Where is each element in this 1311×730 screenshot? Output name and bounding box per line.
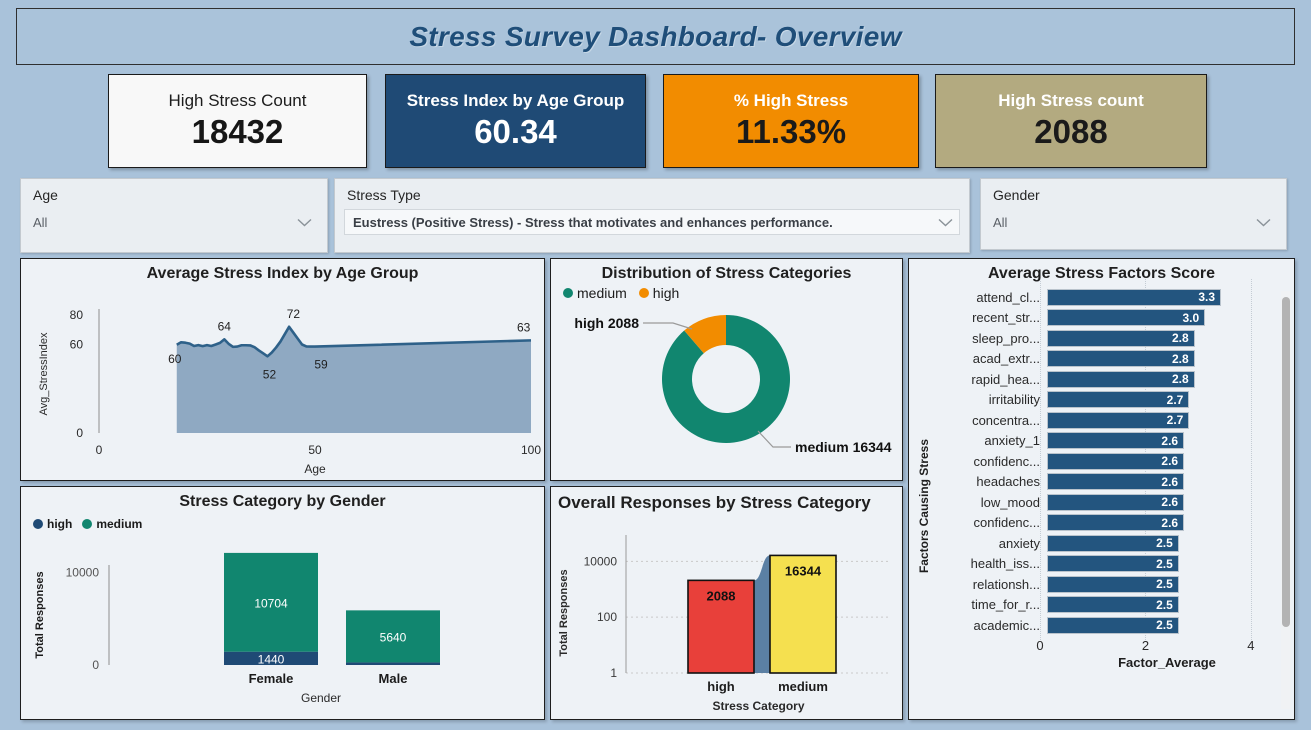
data-label: 59	[314, 358, 328, 372]
chart-y-axis-label: Total Responses	[558, 569, 570, 656]
factor-row[interactable]: relationsh...2.5	[909, 574, 1294, 595]
factor-bar-track: 2.6	[1047, 494, 1294, 511]
factors-x-axis: Factor_Average 024	[1040, 636, 1294, 670]
kpi-label: High Stress Count	[169, 91, 307, 111]
factor-bar-track: 2.5	[1047, 596, 1294, 613]
kpi-value: 18432	[192, 113, 284, 151]
factor-bar[interactable]: 2.8	[1047, 350, 1195, 367]
factors-scrollbar-thumb[interactable]	[1282, 297, 1290, 627]
kpi-card-percent-high-stress[interactable]: % High Stress 11.33%	[663, 74, 919, 168]
y-axis-tick: 0	[92, 658, 99, 672]
slicer-gender-dropdown[interactable]: All	[990, 209, 1277, 235]
factor-bar-track: 3.0	[1047, 309, 1294, 326]
legend-label: high	[653, 285, 679, 301]
factor-bar[interactable]: 2.7	[1047, 412, 1189, 429]
x-axis-tick: 0	[96, 443, 103, 457]
kpi-value: 60.34	[474, 113, 557, 151]
kpi-value: 11.33%	[736, 113, 846, 151]
factor-bar-track: 2.6	[1047, 514, 1294, 531]
factor-bar[interactable]: 3.0	[1047, 309, 1205, 326]
legend-label: high	[47, 517, 72, 531]
factor-row[interactable]: acad_extr...2.8	[909, 349, 1294, 370]
slicer-stress-type-dropdown[interactable]: Eustress (Positive Stress) - Stress that…	[344, 209, 960, 235]
data-label: 72	[287, 307, 301, 321]
factor-label: headaches	[909, 474, 1047, 489]
slicer-gender[interactable]: Gender All	[980, 178, 1287, 250]
factor-row[interactable]: low_mood2.6	[909, 492, 1294, 513]
slicer-gender-title: Gender	[981, 179, 1286, 205]
factor-row[interactable]: time_for_r...2.5	[909, 595, 1294, 616]
factor-bar-track: 2.5	[1047, 535, 1294, 552]
legend-label: medium	[577, 285, 627, 301]
data-label: 2088	[707, 588, 736, 603]
factor-bar[interactable]: 2.6	[1047, 453, 1184, 470]
factor-label: attend_cl...	[909, 290, 1047, 305]
factor-row[interactable]: rapid_hea...2.8	[909, 369, 1294, 390]
data-label: 5640	[380, 630, 407, 644]
callout-leader-high	[643, 323, 692, 329]
factor-row[interactable]: confidenc...2.6	[909, 451, 1294, 472]
factor-bar-track: 2.5	[1047, 555, 1294, 572]
factor-bar[interactable]: 2.8	[1047, 371, 1195, 388]
factor-row[interactable]: recent_str...3.0	[909, 308, 1294, 329]
factor-bar-track: 2.8	[1047, 330, 1294, 347]
kpi-label: High Stress count	[998, 91, 1143, 111]
x-axis-tick: 4	[1247, 638, 1254, 653]
slicer-stress-type-title: Stress Type	[335, 179, 969, 205]
factor-bar-track: 3.3	[1047, 289, 1294, 306]
dashboard-title-banner: Stress Survey Dashboard- Overview	[16, 8, 1295, 65]
legend-item-high[interactable]: high	[639, 285, 679, 301]
y-axis-tick: 10000	[584, 554, 618, 568]
stacked-bar-chart-canvas: Total Responses010000107041440Female5640…	[21, 531, 544, 708]
chevron-down-icon[interactable]	[297, 218, 312, 227]
slicer-stress-type-value: Eustress (Positive Stress) - Stress that…	[353, 215, 932, 230]
x-axis-tick: medium	[778, 679, 828, 694]
factor-bar-track: 2.6	[1047, 453, 1294, 470]
factor-label: low_mood	[909, 495, 1047, 510]
x-axis-tick: high	[707, 679, 734, 694]
kpi-value: 2088	[1034, 113, 1107, 151]
factor-bar-track: 2.6	[1047, 432, 1294, 449]
factor-bar[interactable]: 2.8	[1047, 330, 1195, 347]
factor-bar[interactable]: 2.7	[1047, 391, 1189, 408]
factor-bar-track: 2.7	[1047, 412, 1294, 429]
slicer-age-value: All	[33, 215, 291, 230]
legend-swatch-medium	[563, 288, 573, 298]
x-axis-tick: 100	[521, 443, 541, 457]
data-label: 63	[517, 320, 531, 334]
y-axis-tick: 0	[76, 426, 83, 440]
column-chart-canvas: Total Responses1100100002088high16344med…	[551, 513, 902, 718]
chart-x-axis-label: Gender	[301, 691, 341, 705]
data-label: 10704	[254, 596, 288, 610]
area-chart-canvas: Avg_StressIndex06080606452725963050100Ag…	[21, 283, 544, 478]
callout-label-high: high 2088	[574, 315, 639, 331]
chart-stress-category-by-gender[interactable]: Stress Category by Gender high medium To…	[20, 486, 545, 720]
slicer-age-title: Age	[21, 179, 327, 205]
legend-item-high[interactable]: high	[33, 517, 72, 531]
factor-row[interactable]: concentra...2.7	[909, 410, 1294, 431]
factor-row[interactable]: anxiety_12.6	[909, 431, 1294, 452]
chart-distribution-of-stress-categories[interactable]: Distribution of Stress Categories medium…	[550, 258, 903, 481]
factor-label: rapid_hea...	[909, 372, 1047, 387]
factor-label: sleep_pro...	[909, 331, 1047, 346]
factors-bar-list: attend_cl...3.3recent_str...3.0sleep_pro…	[909, 283, 1294, 636]
factor-label: health_iss...	[909, 556, 1047, 571]
factor-bar[interactable]: 2.5	[1047, 596, 1179, 613]
slicer-gender-value: All	[993, 215, 1250, 230]
data-label: 60	[168, 352, 182, 366]
chart-title: Average Stress Index by Age Group	[21, 259, 544, 283]
data-label: 64	[218, 319, 232, 333]
chevron-down-icon[interactable]	[1256, 218, 1271, 227]
factor-bar-track: 2.8	[1047, 371, 1294, 388]
chart-x-axis-label: Age	[304, 462, 326, 476]
factor-row[interactable]: academic...2.5	[909, 615, 1294, 636]
factor-label: recent_str...	[909, 310, 1047, 325]
slicer-age[interactable]: Age All	[20, 178, 328, 253]
bar-segment-high	[346, 662, 440, 665]
slicer-age-dropdown[interactable]: All	[30, 209, 318, 235]
y-axis-tick: 1	[610, 666, 617, 680]
factor-row[interactable]: attend_cl...3.3	[909, 287, 1294, 308]
gender-legend: high medium	[21, 517, 544, 531]
factor-label: anxiety	[909, 536, 1047, 551]
callout-label-medium: medium 16344	[795, 439, 892, 455]
factor-row[interactable]: confidenc...2.6	[909, 513, 1294, 534]
legend-swatch-medium	[82, 519, 92, 529]
chart-overall-responses-by-stress-category[interactable]: Overall Responses by Stress Category Tot…	[550, 486, 903, 720]
factor-bar-track: 2.5	[1047, 617, 1294, 634]
factor-row[interactable]: anxiety2.5	[909, 533, 1294, 554]
factor-bar[interactable]: 2.6	[1047, 473, 1184, 490]
x-axis-tick: 2	[1142, 638, 1149, 653]
slicer-stress-type[interactable]: Stress Type Eustress (Positive Stress) -…	[334, 178, 970, 253]
chart-x-axis-label: Stress Category	[712, 699, 804, 713]
factor-bar-track: 2.8	[1047, 350, 1294, 367]
factor-bar[interactable]: 2.5	[1047, 617, 1179, 634]
factor-label: relationsh...	[909, 577, 1047, 592]
chart-title: Distribution of Stress Categories	[551, 259, 902, 283]
chart-title: Overall Responses by Stress Category	[551, 487, 902, 513]
factor-row[interactable]: health_iss...2.5	[909, 554, 1294, 575]
factor-bar[interactable]: 2.5	[1047, 555, 1179, 572]
factor-row[interactable]: sleep_pro...2.8	[909, 328, 1294, 349]
factor-bar[interactable]: 2.5	[1047, 576, 1179, 593]
legend-item-medium[interactable]: medium	[82, 517, 142, 531]
y-axis-tick: 100	[597, 610, 617, 624]
y-axis-tick: 10000	[66, 566, 100, 580]
factor-bar-track: 2.5	[1047, 576, 1294, 593]
chevron-down-icon[interactable]	[938, 218, 953, 227]
x-axis-tick: Male	[379, 671, 408, 686]
callout-leader-medium	[758, 431, 791, 447]
factor-label: academic...	[909, 618, 1047, 633]
factor-label: anxiety_1	[909, 433, 1047, 448]
factor-bar[interactable]: 2.6	[1047, 432, 1184, 449]
legend-item-medium[interactable]: medium	[563, 285, 627, 301]
chart-avg-stress-index-by-age[interactable]: Average Stress Index by Age Group Avg_St…	[20, 258, 545, 481]
kpi-label: % High Stress	[734, 91, 848, 111]
chart-title: Average Stress Factors Score	[909, 259, 1294, 283]
factor-label: confidenc...	[909, 454, 1047, 469]
legend-label: medium	[96, 517, 142, 531]
chart-x-axis-label: Factor_Average	[1040, 655, 1294, 670]
kpi-label: Stress Index by Age Group	[407, 91, 625, 111]
chart-average-stress-factors-score[interactable]: Average Stress Factors Score Factors Cau…	[908, 258, 1295, 720]
factor-label: concentra...	[909, 413, 1047, 428]
factor-label: confidenc...	[909, 515, 1047, 530]
page-title: Stress Survey Dashboard- Overview	[409, 21, 901, 53]
chart-y-axis-label: Avg_StressIndex	[38, 332, 50, 415]
kpi-card-stress-index-by-age-group[interactable]: Stress Index by Age Group 60.34	[385, 74, 646, 168]
legend-swatch-high	[33, 519, 43, 529]
factor-bar[interactable]: 2.5	[1047, 535, 1179, 552]
x-axis-tick: Female	[249, 671, 294, 686]
factor-row[interactable]: irritability2.7	[909, 390, 1294, 411]
x-axis-tick: 0	[1036, 638, 1043, 653]
factor-bar[interactable]: 3.3	[1047, 289, 1221, 306]
legend-swatch-high	[639, 288, 649, 298]
factor-bar-track: 2.6	[1047, 473, 1294, 490]
y-axis-tick: 60	[70, 338, 84, 352]
chart-title: Stress Category by Gender	[21, 487, 544, 511]
factors-scrollbar[interactable]	[1281, 291, 1291, 709]
kpi-card-high-stress-count-secondary[interactable]: High Stress count 2088	[935, 74, 1207, 168]
x-axis-tick: 50	[308, 443, 322, 457]
data-label: 16344	[785, 563, 822, 578]
donut-legend: medium high	[551, 285, 902, 301]
donut-chart-canvas: high 2088medium 16344	[551, 301, 902, 469]
dashboard-page: Stress Survey Dashboard- Overview High S…	[0, 0, 1311, 730]
data-label: 52	[263, 367, 277, 381]
factor-bar[interactable]: 2.6	[1047, 514, 1184, 531]
factor-label: irritability	[909, 392, 1047, 407]
y-axis-tick: 80	[70, 308, 84, 322]
data-label: 1440	[258, 652, 285, 666]
kpi-card-high-stress-count[interactable]: High Stress Count 18432	[108, 74, 367, 168]
factor-bar-track: 2.7	[1047, 391, 1294, 408]
factor-row[interactable]: headaches2.6	[909, 472, 1294, 493]
factor-label: acad_extr...	[909, 351, 1047, 366]
factor-label: time_for_r...	[909, 597, 1047, 612]
factor-bar[interactable]: 2.6	[1047, 494, 1184, 511]
ribbon-connector	[754, 555, 770, 673]
chart-y-axis-label: Total Responses	[34, 571, 46, 658]
